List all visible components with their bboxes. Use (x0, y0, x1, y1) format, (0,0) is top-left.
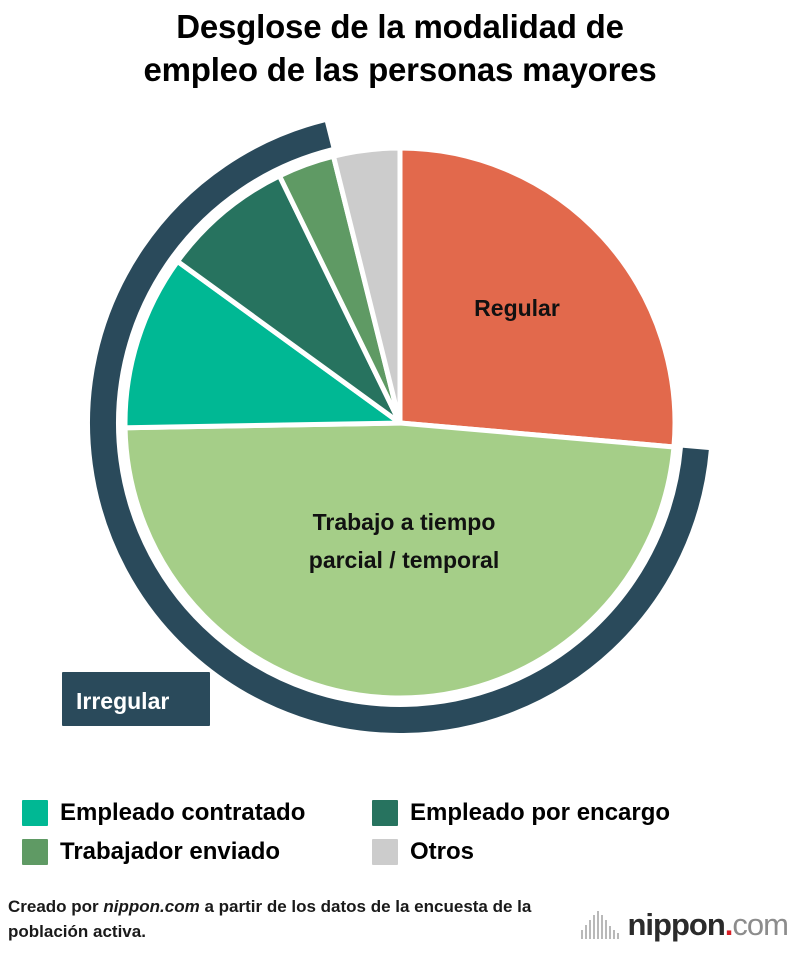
credit-source: nippon.com (103, 897, 199, 916)
legend-item-empleado-contratado[interactable]: Empleado contratado (22, 799, 372, 827)
brand-dot: . (725, 909, 733, 940)
pie-chart-svg: Regular Trabajo a tiempo parcial / tempo… (0, 118, 800, 768)
chart-footer: Creado por nippon.com a partir de los da… (4, 895, 796, 953)
chart-legend: Empleado contratado Empleado por encargo… (22, 793, 782, 871)
credit-prefix: Creado por (8, 897, 103, 916)
pie-slices-group (125, 148, 675, 698)
nippon-logo: nippon.com (581, 909, 789, 940)
legend-item-empleado-por-encargo[interactable]: Empleado por encargo (372, 799, 670, 827)
legend-item-otros[interactable]: Otros (372, 838, 474, 866)
regular-slice-label: Regular (474, 295, 560, 321)
legend-swatch-trabajador-enviado (22, 839, 48, 865)
legend-label-trabajador-enviado: Trabajador enviado (60, 838, 280, 866)
parttime-slice-label-line1: Trabajo a tiempo (313, 509, 496, 535)
pie-chart-figure: Regular Trabajo a tiempo parcial / tempo… (0, 118, 800, 768)
legend-row-2: Trabajador enviado Otros (22, 832, 782, 871)
legend-row-1: Empleado contratado Empleado por encargo (22, 793, 782, 832)
page-title: Desglose de la modalidad de empleo de la… (0, 6, 800, 92)
credit-text: Creado por nippon.com a partir de los da… (8, 895, 548, 944)
irregular-callout-label: Irregular (76, 688, 169, 714)
brand-name: nippon (628, 909, 725, 940)
legend-item-trabajador-enviado[interactable]: Trabajador enviado (22, 838, 372, 866)
chart-page: Desglose de la modalidad de empleo de la… (0, 0, 800, 954)
parttime-slice-label-line2: parcial / temporal (309, 547, 499, 573)
legend-label-otros: Otros (410, 838, 474, 866)
nippon-waveform-icon (581, 911, 621, 939)
legend-swatch-otros (372, 839, 398, 865)
legend-swatch-empleado-por-encargo (372, 800, 398, 826)
legend-swatch-empleado-contratado (22, 800, 48, 826)
legend-label-empleado-contratado: Empleado contratado (60, 799, 305, 827)
brand-tld: com (732, 909, 788, 940)
legend-label-empleado-por-encargo: Empleado por encargo (410, 799, 670, 827)
